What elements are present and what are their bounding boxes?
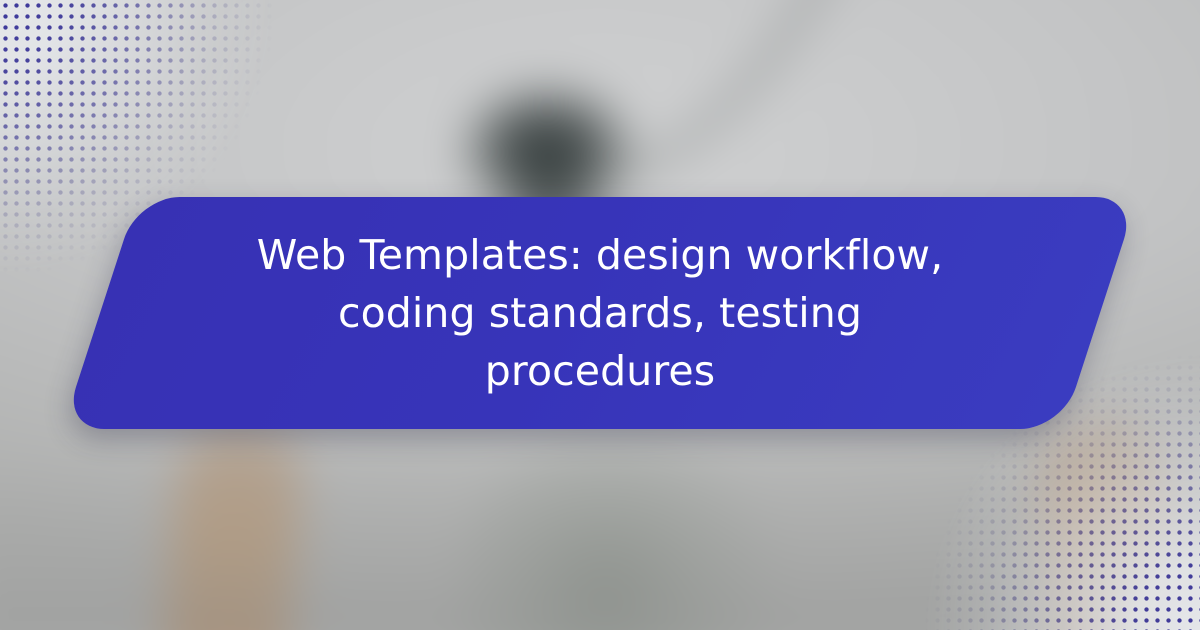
- social-card: Web Templates: design workflow, coding s…: [0, 0, 1200, 630]
- page-title: Web Templates: design workflow, coding s…: [100, 197, 1100, 429]
- title-banner: Web Templates: design workflow, coding s…: [100, 197, 1100, 429]
- photo-lamp-cord: [600, 0, 918, 193]
